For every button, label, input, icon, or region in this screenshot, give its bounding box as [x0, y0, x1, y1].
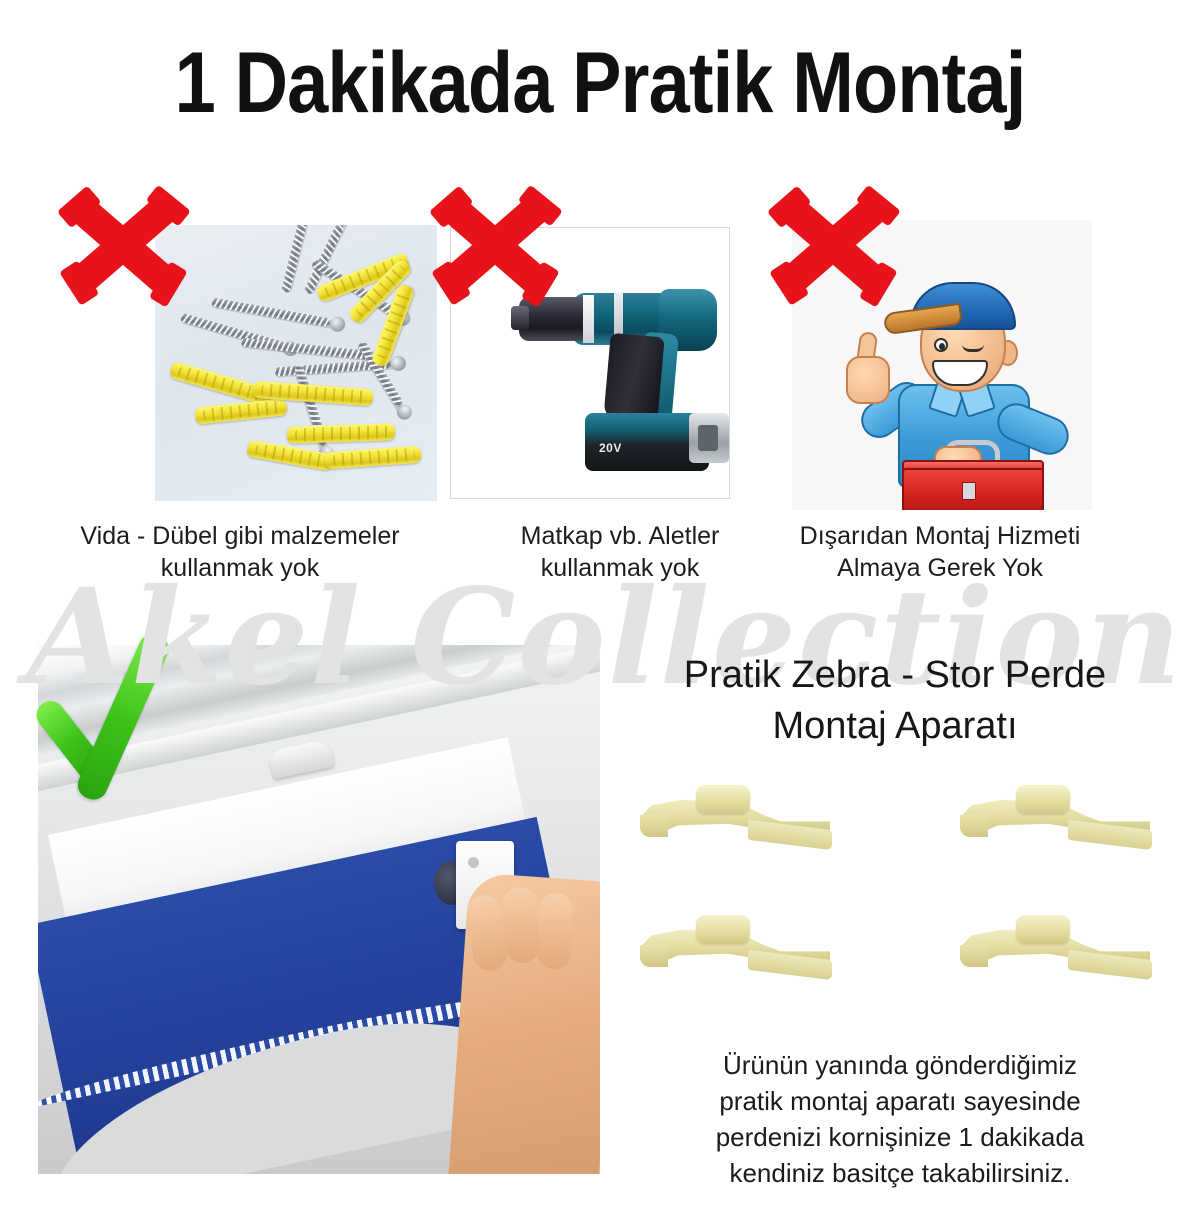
description-line: kendiniz basitçe takabilirsiniz. — [620, 1156, 1180, 1192]
description-line: Ürünün yanında gönderdiğimiz — [620, 1048, 1180, 1084]
caption-line: Dışarıdan Montaj Hizmeti — [775, 520, 1105, 552]
product-heading-line: Montaj Aparatı — [610, 701, 1180, 752]
product-heading: Pratik Zebra - Stor Perde Montaj Aparatı — [610, 650, 1180, 753]
caption-line: Vida - Dübel gibi malzemeler — [30, 520, 450, 552]
page-title: 1 Dakikada Pratik Montaj — [84, 34, 1116, 133]
caption-line: Matkap vb. Aletler — [455, 520, 785, 552]
caption-drill: Matkap vb. Aletler kullanmak yok — [455, 520, 785, 584]
mounting-clip — [960, 785, 1150, 865]
promo-poster: 1 Dakikada Pratik Montaj — [0, 0, 1200, 1224]
mounting-clip — [960, 915, 1150, 995]
description-line: pratik montaj aparatı sayesinde — [620, 1084, 1180, 1120]
mounting-clip — [640, 785, 830, 865]
description-line: perdenizi kornişinize 1 dakikada — [620, 1120, 1180, 1156]
caption-line: kullanmak yok — [30, 552, 450, 584]
green-check-icon — [10, 612, 180, 792]
mounting-clips-grid — [630, 775, 1170, 1025]
product-description: Ürünün yanında gönderdiğimiz pratik mont… — [620, 1048, 1180, 1192]
caption-line: Almaya Gerek Yok — [775, 552, 1105, 584]
mounting-clip — [640, 915, 830, 995]
caption-screws: Vida - Dübel gibi malzemeler kullanmak y… — [30, 520, 450, 584]
battery-voltage-label: 20V — [599, 441, 622, 455]
red-x-icon — [420, 175, 570, 315]
product-heading-line: Pratik Zebra - Stor Perde — [610, 650, 1180, 701]
red-x-icon — [48, 175, 198, 315]
red-x-icon — [758, 175, 908, 315]
caption-installer: Dışarıdan Montaj Hizmeti Almaya Gerek Yo… — [775, 520, 1105, 584]
caption-line: kullanmak yok — [455, 552, 785, 584]
